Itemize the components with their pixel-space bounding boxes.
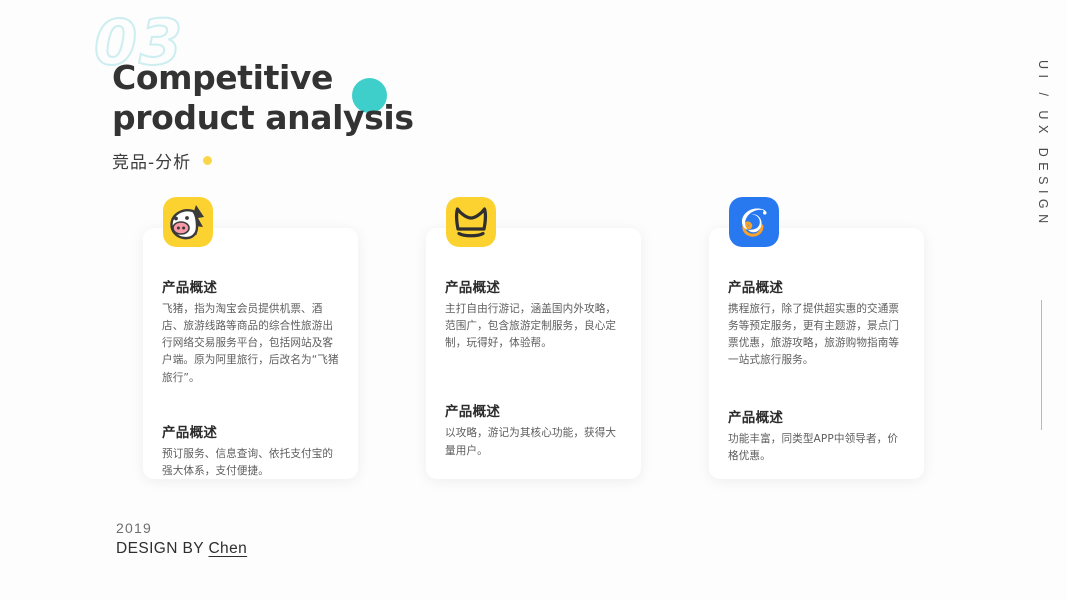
block-body: 预订服务、信息查询、依托支付宝的强大体系，支付便捷。 [162,446,339,480]
block-body: 功能丰富，同类型APP中领导者，价格优惠。 [728,431,905,465]
card-block: 产品概述 主打自由行游记，涵盖国内外攻略，范围广，包含旅游定制服务，良心定制，玩… [445,276,622,352]
product-card-fliggy[interactable]: 产品概述 飞猪，指为淘宝会员提供机票、酒店、旅游线路等商品的综合性旅游出行网络交… [143,228,358,479]
block-spacer [445,356,622,400]
block-title: 产品概述 [162,421,339,441]
block-spacer [728,374,905,406]
page-title-line-1: Competitive [112,58,414,98]
product-card-ctrip[interactable]: 产品概述 携程旅行，除了提供超实惠的交通票务等预定服务，更有主题游，景点门票优惠… [709,228,924,479]
footer-credit: DESIGN BY Chen [116,540,247,558]
block-body: 携程旅行，除了提供超实惠的交通票务等预定服务，更有主题游，景点门票优惠，旅游攻略… [728,301,905,370]
side-label-text: UI / UX DESIGN [1036,60,1050,229]
block-spacer [162,391,339,421]
card-block: 产品概述 以攻略，游记为其核心功能，获得大量用户。 [445,400,622,459]
card-block: 产品概述 携程旅行，除了提供超实惠的交通票务等预定服务，更有主题游，景点门票优惠… [728,276,905,370]
slide-root: 03 Competitive product analysis 竞品-分析 UI… [0,0,1067,600]
card-block: 产品概述 功能丰富，同类型APP中领导者，价格优惠。 [728,406,905,465]
footer-credit-label: DESIGN BY [116,540,204,557]
footer-author: Chen [208,540,247,557]
block-title: 产品概述 [728,406,905,426]
header: 03 Competitive product analysis 竞品-分析 [112,18,414,173]
mafengwo-app-icon [446,197,496,247]
card-block: 产品概述 预订服务、信息查询、依托支付宝的强大体系，支付便捷。 [162,421,339,480]
fliggy-app-icon [163,197,213,247]
title-wrap: Competitive product analysis 竞品-分析 [112,18,414,173]
subtitle-row: 竞品-分析 [112,148,414,173]
page-title-line-2: product analysis [112,98,414,138]
block-title: 产品概述 [445,276,622,296]
block-body: 主打自由行游记，涵盖国内外攻略，范围广，包含旅游定制服务，良心定制，玩得好，体验… [445,301,622,352]
subtitle-chinese: 竞品-分析 [112,148,191,173]
block-title: 产品概述 [162,276,339,296]
footer: 2019 DESIGN BY Chen [116,520,247,558]
block-body: 以攻略，游记为其核心功能，获得大量用户。 [445,425,622,459]
ctrip-app-icon [729,197,779,247]
product-card-mafengwo[interactable]: 产品概述 主打自由行游记，涵盖国内外攻略，范围广，包含旅游定制服务，良心定制，玩… [426,228,641,479]
block-title: 产品概述 [445,400,622,420]
yellow-dot-icon [203,156,212,165]
block-body: 飞猪，指为淘宝会员提供机票、酒店、旅游线路等商品的综合性旅游出行网络交易服务平台… [162,301,339,387]
card-block: 产品概述 飞猪，指为淘宝会员提供机票、酒店、旅游线路等商品的综合性旅游出行网络交… [162,276,339,387]
footer-year: 2019 [116,520,247,536]
block-title: 产品概述 [728,276,905,296]
card-row: 产品概述 飞猪，指为淘宝会员提供机票、酒店、旅游线路等商品的综合性旅游出行网络交… [0,228,1067,479]
